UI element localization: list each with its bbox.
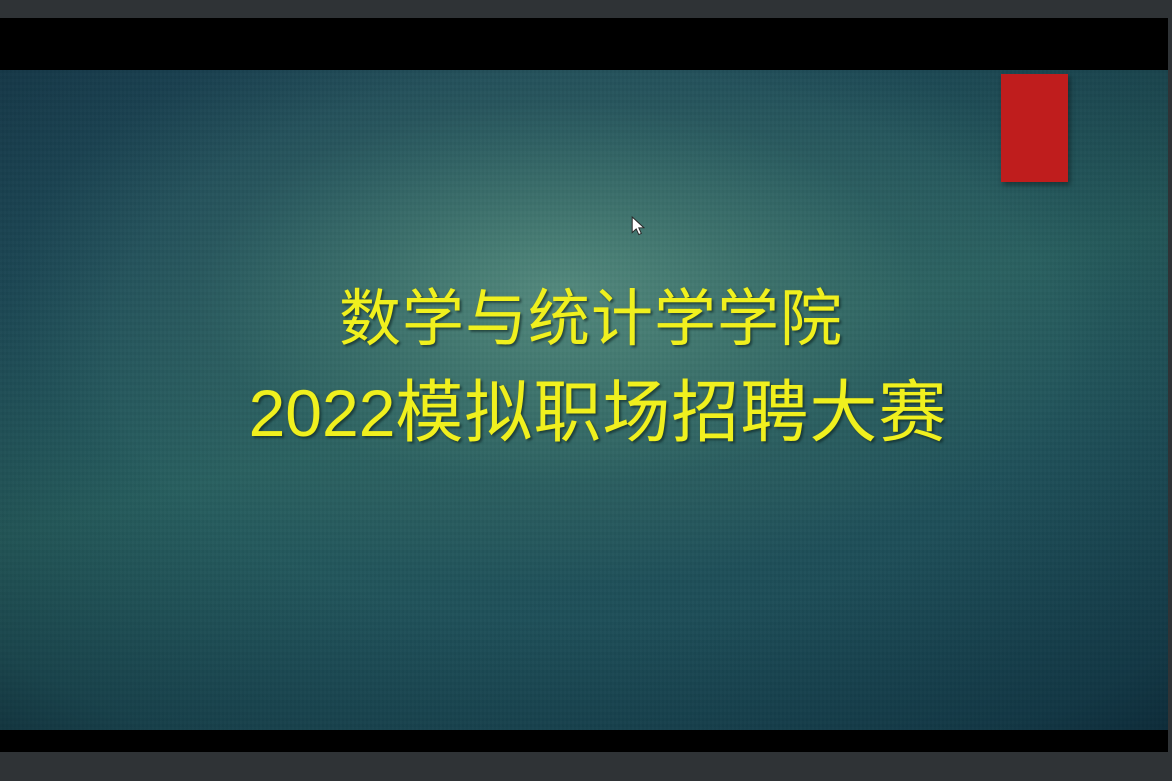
window-chrome-top: [0, 0, 1172, 18]
slide-title-year: 2022: [249, 376, 396, 450]
slide-title-line-1: 数学与统计学学院: [0, 284, 1168, 356]
window-chrome-right: [1168, 0, 1172, 781]
window-chrome-bottom: [0, 752, 1172, 781]
presentation-slide[interactable]: 数学与统计学学院 2022模拟职场招聘大赛: [0, 70, 1168, 730]
slide-title-line-2-text: 模拟职场招聘大赛: [395, 375, 947, 451]
presentation-viewer: 数学与统计学学院 2022模拟职场招聘大赛: [0, 0, 1172, 781]
slide-title-line-2: 2022模拟职场招聘大赛: [0, 373, 1168, 453]
video-canvas-letterbox[interactable]: 数学与统计学学院 2022模拟职场招聘大赛: [0, 18, 1168, 752]
red-accent-rectangle: [1001, 74, 1068, 182]
